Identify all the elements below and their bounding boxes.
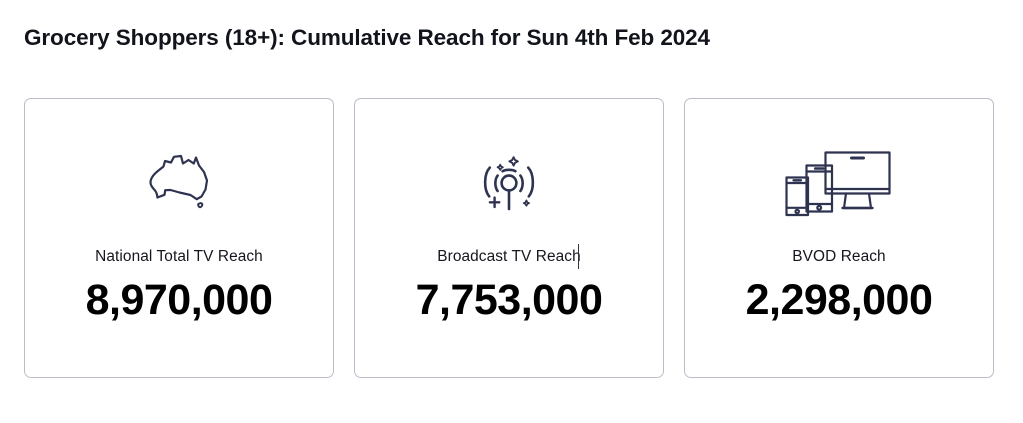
page-title: Grocery Shoppers (18+): Cumulative Reach… [24, 25, 710, 51]
stat-card-value: 8,970,000 [86, 275, 273, 326]
stat-card-row: National Total TV Reach 8,970,000 [24, 98, 994, 378]
stat-card-broadcast-tv-reach[interactable]: Broadcast TV Reach 7,753,000 [354, 98, 664, 378]
stat-card-label: BVOD Reach [792, 248, 885, 266]
stat-card-value: 2,298,000 [746, 275, 933, 326]
stat-card-label: Broadcast TV Reach [437, 248, 581, 266]
devices-screens-icon [783, 143, 895, 221]
australia-map-icon [141, 143, 217, 221]
broadcast-antenna-icon [472, 143, 546, 221]
stat-card-national-total-tv-reach[interactable]: National Total TV Reach 8,970,000 [24, 98, 334, 378]
stat-card-label-text: Broadcast TV Reach [437, 248, 581, 265]
stat-card-label: National Total TV Reach [95, 248, 263, 266]
text-cursor-caret [578, 244, 579, 269]
stat-card-bvod-reach[interactable]: BVOD Reach 2,298,000 [684, 98, 994, 378]
stat-card-value: 7,753,000 [416, 275, 603, 326]
